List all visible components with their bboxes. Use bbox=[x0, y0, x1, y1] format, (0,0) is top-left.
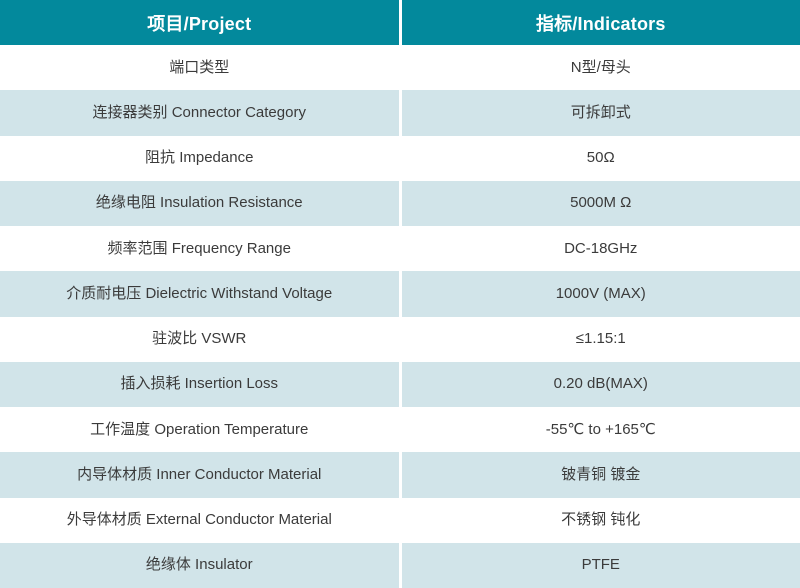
table-row: 绝缘体 InsulatorPTFE bbox=[0, 543, 800, 588]
cell-indicator: 50Ω bbox=[402, 136, 800, 181]
cell-indicator: 可拆卸式 bbox=[402, 90, 800, 135]
column-header-project: 项目/Project bbox=[0, 0, 399, 45]
table-row: 工作温度 Operation Temperature-55℃ to +165℃ bbox=[0, 407, 800, 452]
cell-indicator: PTFE bbox=[402, 543, 800, 588]
table-row: 频率范围 Frequency RangeDC-18GHz bbox=[0, 226, 800, 271]
table-row: 阻抗 Impedance50Ω bbox=[0, 136, 800, 181]
table-row: 绝缘电阻 Insulation Resistance5000M Ω bbox=[0, 181, 800, 226]
cell-indicator: -55℃ to +165℃ bbox=[402, 407, 800, 452]
column-header-indicators: 指标/Indicators bbox=[402, 0, 800, 45]
cell-indicator: 铍青铜 镀金 bbox=[402, 452, 800, 497]
table-body: 端口类型N型/母头连接器类别 Connector Category可拆卸式阻抗 … bbox=[0, 45, 800, 588]
cell-project: 工作温度 Operation Temperature bbox=[0, 407, 399, 452]
table-row: 插入损耗 Insertion Loss0.20 dB(MAX) bbox=[0, 362, 800, 407]
cell-indicator: ≤1.15:1 bbox=[402, 317, 800, 362]
cell-indicator: 不锈钢 钝化 bbox=[402, 498, 800, 543]
cell-project: 频率范围 Frequency Range bbox=[0, 226, 399, 271]
table-row: 连接器类别 Connector Category可拆卸式 bbox=[0, 90, 800, 135]
table-row: 外导体材质 External Conductor Material不锈钢 钝化 bbox=[0, 498, 800, 543]
cell-project: 介质耐电压 Dielectric Withstand Voltage bbox=[0, 271, 399, 316]
cell-indicator: 5000M Ω bbox=[402, 181, 800, 226]
cell-project: 端口类型 bbox=[0, 45, 399, 90]
table-row: 端口类型N型/母头 bbox=[0, 45, 800, 90]
cell-project: 连接器类别 Connector Category bbox=[0, 90, 399, 135]
cell-indicator: 0.20 dB(MAX) bbox=[402, 362, 800, 407]
cell-project: 外导体材质 External Conductor Material bbox=[0, 498, 399, 543]
cell-project: 内导体材质 Inner Conductor Material bbox=[0, 452, 399, 497]
table-row: 内导体材质 Inner Conductor Material铍青铜 镀金 bbox=[0, 452, 800, 497]
specification-table: 项目/Project 指标/Indicators 端口类型N型/母头连接器类别 … bbox=[0, 0, 800, 588]
cell-indicator: 1000V (MAX) bbox=[402, 271, 800, 316]
cell-project: 绝缘电阻 Insulation Resistance bbox=[0, 181, 399, 226]
cell-project: 驻波比 VSWR bbox=[0, 317, 399, 362]
table-row: 驻波比 VSWR≤1.15:1 bbox=[0, 317, 800, 362]
table-row: 介质耐电压 Dielectric Withstand Voltage1000V … bbox=[0, 271, 800, 316]
cell-project: 插入损耗 Insertion Loss bbox=[0, 362, 399, 407]
table-header-row: 项目/Project 指标/Indicators bbox=[0, 0, 800, 45]
cell-project: 绝缘体 Insulator bbox=[0, 543, 399, 588]
cell-project: 阻抗 Impedance bbox=[0, 136, 399, 181]
cell-indicator: DC-18GHz bbox=[402, 226, 800, 271]
cell-indicator: N型/母头 bbox=[402, 45, 800, 90]
